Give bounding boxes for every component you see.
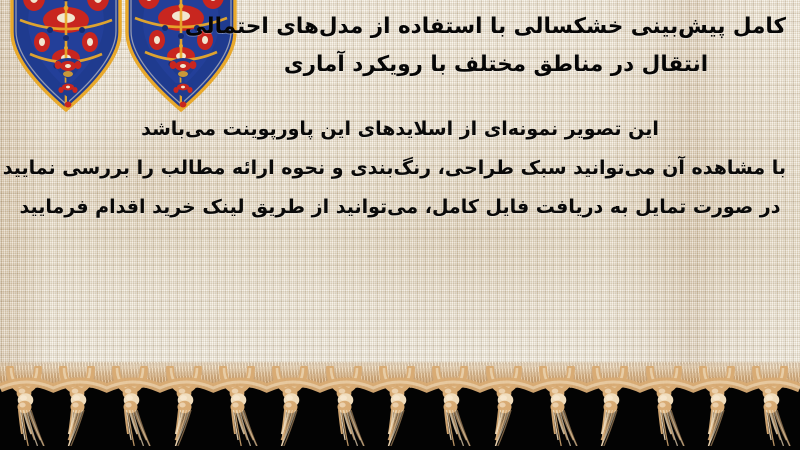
body-line-1: این تصویر نمونه‌ای از اسلایدهای این پاور… <box>14 110 786 149</box>
body-line-2: با مشاهده آن می‌توانید سبک طراحی، رنگ‌بن… <box>14 149 786 188</box>
presentation-slide: کامل پیش‌بینی خشکسالی با استفاده از مدل‌… <box>0 0 800 450</box>
knotted-tassel-fringe <box>0 360 800 450</box>
fringe-header-cord <box>0 372 800 402</box>
body-line-3: در صورت تمایل به دریافت فایل کامل، می‌تو… <box>14 188 786 227</box>
slide-text-layer: کامل پیش‌بینی خشکسالی با استفاده از مدل‌… <box>0 0 800 383</box>
title-line-2: انتقال در مناطق مختلف با رویکرد آماری <box>206 46 786 84</box>
slide-title: کامل پیش‌بینی خشکسالی با استفاده از مدل‌… <box>206 8 786 84</box>
slide-body: این تصویر نمونه‌ای از اسلایدهای این پاور… <box>14 110 786 227</box>
title-line-1: کامل پیش‌بینی خشکسالی با استفاده از مدل‌… <box>206 8 786 46</box>
